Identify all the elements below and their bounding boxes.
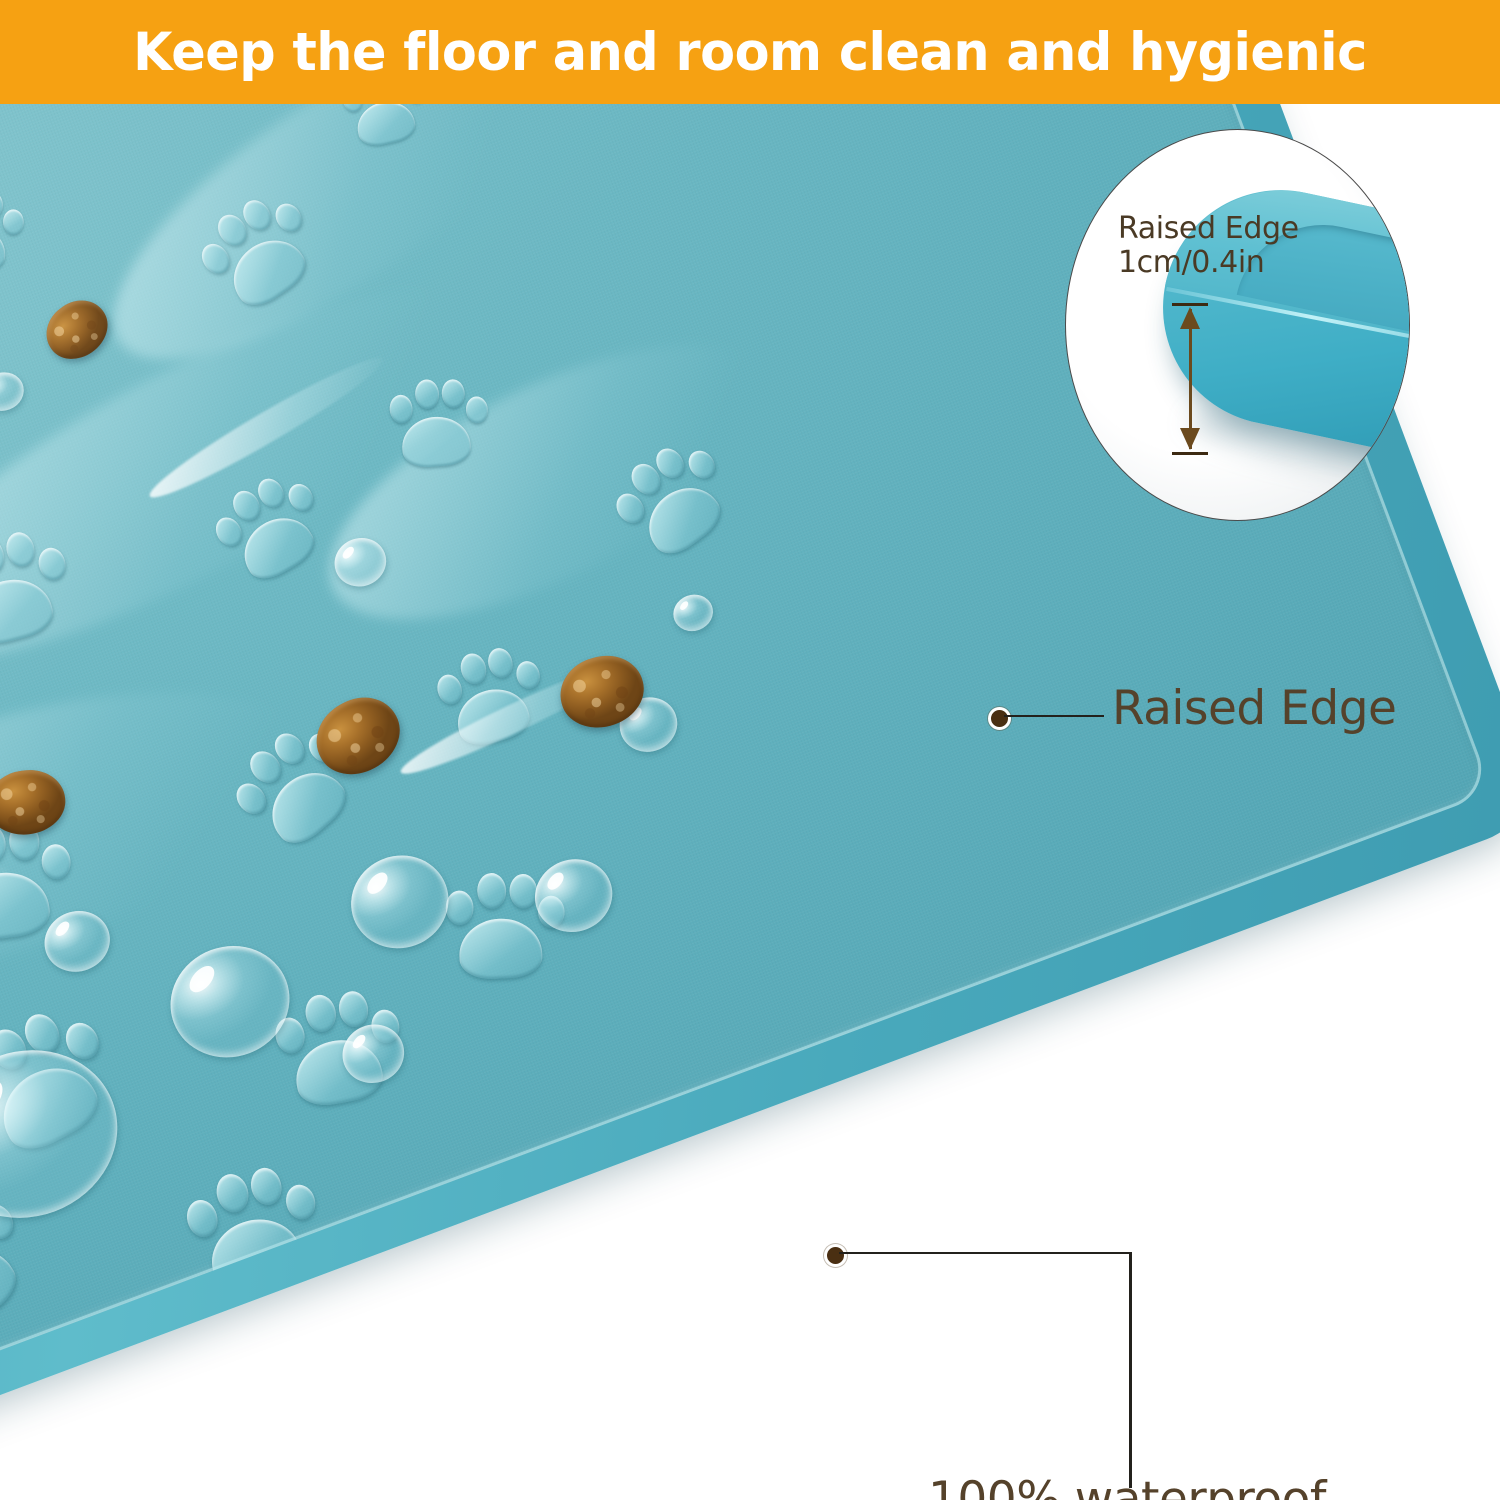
- water-film: [291, 290, 805, 674]
- product-photo: Raised Edge 1cm/0.4in Raised Edge 100% w: [0, 104, 1500, 1500]
- water-streak: [0, 857, 12, 957]
- kibble-piece: [553, 647, 652, 736]
- dimension-cap-top: [1172, 303, 1208, 306]
- callout-marker-dot: [988, 707, 1011, 730]
- water-droplet: [0, 1024, 141, 1243]
- raised-edge-inset: Raised Edge 1cm/0.4in: [1065, 129, 1410, 521]
- water-droplet: [328, 531, 394, 594]
- water-film: [0, 636, 337, 1033]
- callout-raised-edge: Raised Edge: [988, 694, 1408, 764]
- callout-waterproof-label: 100% waterproof: [928, 1476, 1326, 1500]
- banner-headline: Keep the floor and room clean and hygien…: [30, 0, 1470, 104]
- callout-marker-dot: [824, 1244, 847, 1267]
- water-droplet: [338, 842, 462, 962]
- callout-waterproof: 100% waterproof: [824, 1244, 1344, 1500]
- kibble-piece: [303, 684, 413, 788]
- inset-circle-frame: Raised Edge 1cm/0.4in: [1065, 129, 1410, 521]
- water-droplet: [155, 929, 306, 1074]
- kibble-piece: [35, 289, 118, 370]
- callout-leader-line-vertical: [1129, 1252, 1132, 1488]
- water-droplet: [0, 366, 29, 416]
- water-droplet: [612, 689, 685, 760]
- callout-leader-line: [1004, 715, 1104, 718]
- water-streak: [395, 652, 633, 785]
- inset-label: Raised Edge 1cm/0.4in: [1118, 212, 1328, 280]
- kibble-piece: [0, 766, 69, 838]
- water-film: [0, 225, 529, 725]
- callout-leader-line-horizontal: [839, 1252, 1132, 1255]
- dimension-arrow-icon: [1170, 303, 1210, 455]
- water-droplet: [334, 1016, 412, 1092]
- product-marketing-image: Keep the floor and room clean and hygien…: [0, 0, 1500, 1500]
- dimension-cap-bottom: [1172, 452, 1208, 455]
- arrow-up-icon: [1180, 307, 1200, 329]
- water-droplet: [668, 589, 718, 637]
- header-banner: Keep the floor and room clean and hygien…: [0, 0, 1500, 104]
- arrow-down-icon: [1180, 428, 1200, 450]
- water-film: [69, 104, 599, 416]
- water-streak: [142, 346, 390, 509]
- water-droplet: [36, 902, 119, 981]
- callout-raised-edge-label: Raised Edge: [1112, 685, 1396, 732]
- water-droplet: [524, 848, 622, 943]
